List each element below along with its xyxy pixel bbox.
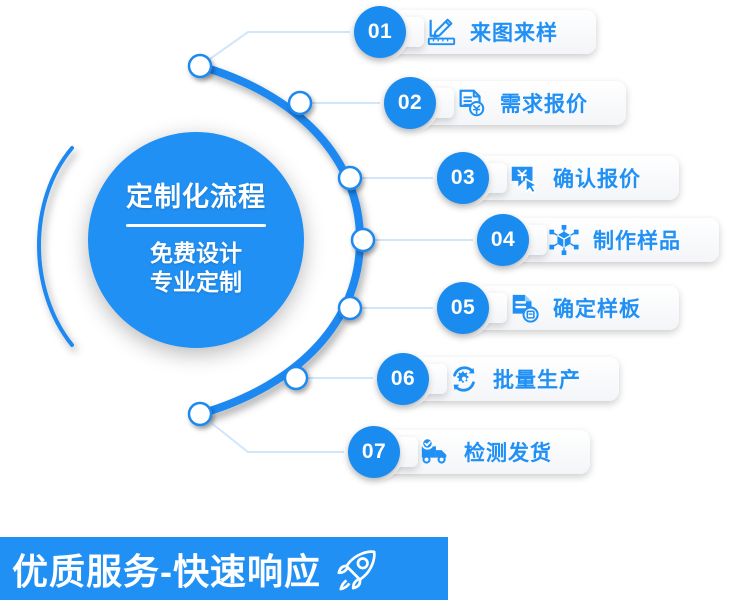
step-item-01[interactable]: 01 来图来样: [354, 6, 596, 58]
step-item-03[interactable]: 03 确认报价: [437, 152, 679, 204]
arc-node-06: [285, 367, 307, 389]
step-item-05[interactable]: 05 确定样板: [437, 282, 679, 334]
center-subtitle: 免费设计 专业定制: [150, 239, 242, 297]
step-number-badge: 05: [437, 282, 489, 334]
arc-node-03: [339, 167, 361, 189]
pencil-ruler-icon: [424, 15, 458, 49]
rocket-icon: [335, 547, 379, 591]
center-divider: [126, 224, 266, 227]
cube-network-icon: [547, 223, 581, 257]
step-number-badge: 04: [477, 214, 529, 266]
step-number-badge: 02: [384, 77, 436, 129]
step-label: 制作样品: [593, 225, 681, 255]
step-label: 检测发货: [464, 437, 552, 467]
step-number-badge: 06: [377, 353, 429, 405]
bottom-banner: 优质服务-快速响应: [0, 537, 448, 600]
step-number-badge: 03: [437, 152, 489, 204]
left-arc-decoration: [39, 148, 72, 345]
step-item-02[interactable]: 02 需求报价: [384, 77, 626, 129]
center-circle: 定制化流程 免费设计 专业定制: [88, 132, 304, 348]
yuan-cursor-icon: [507, 161, 541, 195]
step-label: 需求报价: [500, 88, 588, 118]
center-subtitle-line1: 免费设计: [150, 239, 242, 268]
step-item-04[interactable]: 04 制作样品: [477, 214, 719, 266]
arc-node-05: [339, 297, 361, 319]
step-label: 确定样板: [553, 293, 641, 323]
step-item-07[interactable]: 07 检测发货: [348, 426, 590, 478]
step-label: 批量生产: [493, 364, 581, 394]
gear-refresh-icon: [447, 362, 481, 396]
banner-text: 优质服务-快速响应: [12, 543, 321, 595]
arc-node-07: [189, 403, 211, 425]
template-file-icon: [507, 291, 541, 325]
connector-line-07: [200, 414, 360, 452]
infographic-canvas: 定制化流程 免费设计 专业定制 01 来图来样 02: [0, 0, 750, 613]
document-yuan-icon: [454, 86, 488, 120]
arc-node-04: [352, 229, 374, 251]
step-item-06[interactable]: 06 批量生产: [377, 353, 619, 405]
connector-line-01: [200, 32, 360, 66]
center-title: 定制化流程: [126, 183, 266, 213]
step-label: 确认报价: [553, 163, 641, 193]
center-subtitle-line2: 专业定制: [150, 268, 242, 297]
step-label: 来图来样: [470, 17, 558, 47]
truck-check-icon: [418, 435, 452, 469]
step-number-badge: 07: [348, 426, 400, 478]
arc-node-01: [189, 55, 211, 77]
arc-node-02: [289, 92, 311, 114]
step-number-badge: 01: [354, 6, 406, 58]
